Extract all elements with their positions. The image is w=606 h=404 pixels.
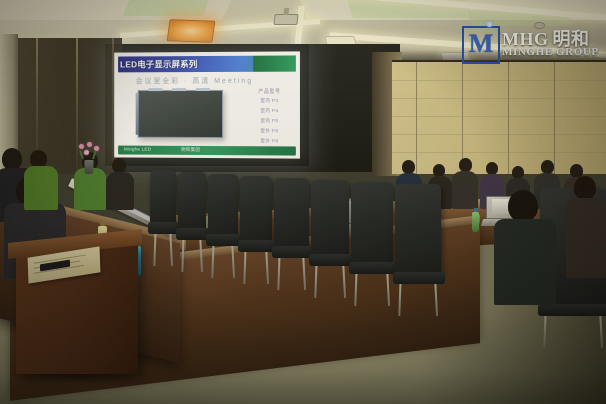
logo-mark-letter: M — [464, 28, 498, 62]
conference-chair[interactable] — [208, 174, 238, 238]
attendee — [494, 190, 556, 300]
conference-chair[interactable] — [274, 178, 309, 250]
attendee — [452, 158, 478, 208]
projection-screen: LED电子显示屏系列 会议室全彩 · 高清 Meeting 产品型号 室内 P3… — [114, 51, 300, 158]
mhg-minghe-group-logo: M MHG明和 MINGHE GROUP — [462, 24, 600, 70]
conference-chair[interactable] — [395, 184, 441, 276]
attendee — [24, 150, 58, 206]
wall-right-panels — [392, 62, 606, 174]
slide-title: LED电子显示屏系列 — [120, 56, 197, 72]
slide-list-item: 室外 P8 — [246, 138, 293, 144]
logo-mark-icon: M — [462, 26, 500, 64]
logo-subtitle: MINGHE GROUP — [502, 46, 599, 58]
water-bottle — [472, 212, 479, 232]
conference-chair[interactable] — [311, 180, 349, 258]
attendee — [106, 158, 134, 206]
slide-subtitle: 会议室全彩 · 高清 Meeting — [136, 76, 292, 86]
conference-room-photo: LED电子显示屏系列 会议室全彩 · 高清 Meeting 产品型号 室内 P3… — [0, 0, 606, 404]
conference-chair[interactable] — [351, 182, 393, 266]
conference-chair[interactable] — [240, 176, 272, 244]
slide-footer-bar: Minghe LED 明和集团 — [118, 146, 296, 156]
ceiling-light-well — [123, 0, 209, 16]
slide-footer-left: Minghe LED — [124, 147, 151, 152]
led-display-product-image — [138, 90, 223, 138]
conference-chair[interactable] — [178, 172, 206, 232]
slide-list-item: 室外 P6 — [246, 128, 293, 134]
logo-dot-icon — [487, 22, 492, 27]
slide-list-header: 产品型号 — [246, 88, 293, 95]
slide-list-item: 室内 P3 — [246, 98, 293, 104]
warm-light-panel — [167, 19, 216, 43]
flower-vase — [76, 142, 102, 174]
slide-list-item: 室内 P4 — [246, 108, 293, 114]
attendee — [566, 176, 606, 276]
conference-chair[interactable] — [150, 170, 176, 226]
slide-list-item: 室内 P5 — [246, 118, 293, 124]
slide-footer-right: 明和集团 — [181, 147, 200, 153]
ceiling-projector — [273, 14, 298, 25]
